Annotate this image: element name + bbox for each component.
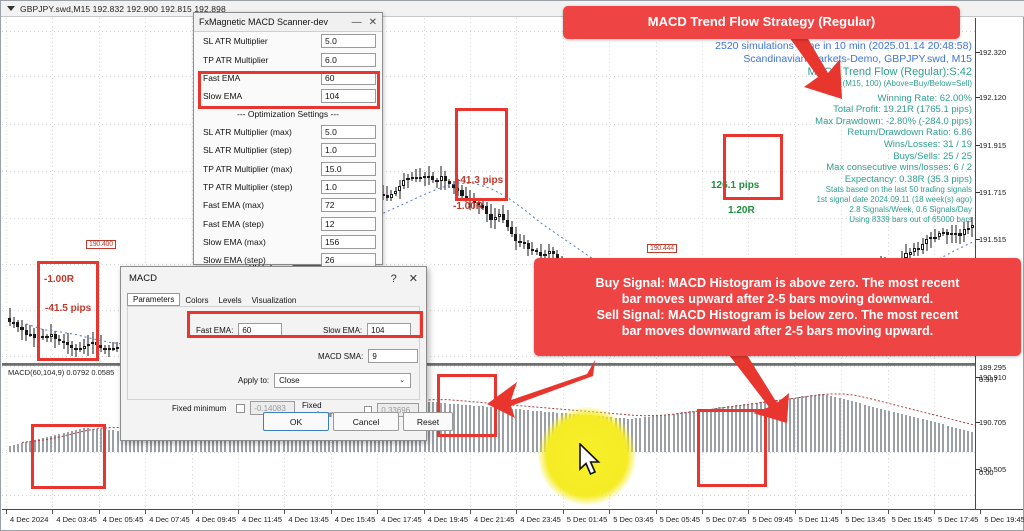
scanner-row-label: TP ATR Multiplier (max) [203,164,321,174]
scanner-row[interactable]: TP ATR Multiplier (max) 15.0 [194,159,382,177]
macd-dialog-titlebar[interactable]: MACD ? ✕ [121,267,426,290]
close-icon[interactable]: ✕ [409,272,418,285]
scanner-row-label: TP ATR Multiplier [203,55,321,65]
time-axis-label: 4 Dec 21:45 [474,515,514,524]
apply-to-value[interactable]: Close [279,374,299,388]
time-axis-label: 4 Dec 13:45 [288,515,328,524]
scanner-row[interactable]: TP ATR Multiplier (step) 1.0 [194,178,382,196]
fixed-minimum-checkbox[interactable] [236,404,245,413]
macd-sma-row: MACD SMA: 9 [318,349,418,363]
help-icon[interactable]: ? [391,273,397,285]
scanner-row-label: Fast EMA (max) [203,200,321,210]
callout-title: MACD Trend Flow Strategy (Regular) [563,6,960,39]
callout-rule-line-4: bar moves downward after 2-5 bars moving… [622,323,933,339]
fixed-minimum-label: Fixed minimum [172,404,226,413]
tab-levels[interactable]: Levels [213,295,246,306]
time-axis-label: 4 Dec 03:45 [56,515,96,524]
time-axis-label: 4 Dec 09:45 [196,515,236,524]
time-axis-label: 4 Dec 2024 [10,515,48,524]
price-axis-label: 191.715 [979,188,1006,197]
scanner-row-value[interactable]: 5.0 [321,125,376,139]
apply-to-row: Apply to: Close ⌄ [238,373,418,388]
time-axis-label: 4 Dec 19:45 [428,515,468,524]
scanner-row-label: Slow EMA (max) [203,237,321,247]
scanner-row-value[interactable]: 15.0 [321,162,376,176]
tab-colors[interactable]: Colors [180,295,213,306]
stat-total-profit: Total Profit: 19.21R (1765.1 pips) [715,104,972,116]
time-axis-label: 5 Dec 15:45 [892,515,932,524]
scanner-row-value[interactable]: 1.0 [321,180,376,194]
macd-sma-label: MACD SMA: [318,352,363,361]
time-axis-label: 4 Dec 11:45 [242,515,282,524]
reset-button[interactable]: Reset [403,412,453,431]
macd-properties-dialog[interactable]: MACD ? ✕ Parameters Colors Levels Visual… [120,266,427,441]
time-axis-label: 5 Dec 05:45 [660,515,700,524]
scanner-row-label: SL ATR Multiplier (step) [203,145,321,155]
time-axis-label: 5 Dec 17:45 [938,515,978,524]
macd-dialog-title: MACD [129,273,391,284]
tab-parameters[interactable]: Parameters [127,293,180,306]
scanner-row[interactable]: Slow EMA (max) 156 [194,233,382,251]
stat-bars-used: Using 8339 bars out of 65000 bars [715,215,972,225]
highlight-box-dialog-ema [187,311,423,338]
arrow-callout-to-macd-right [725,355,795,423]
scanner-row-value[interactable]: 1.0 [321,143,376,157]
highlight-box-trade-1 [37,261,99,361]
stat-max-drawdown: Max Drawdown: -2.80% (-284.0 pips) [715,116,972,128]
time-axis-label: 5 Dec 09:45 [752,515,792,524]
price-axis-label: 191.515 [979,235,1006,244]
close-icon[interactable]: ✕ [369,17,377,28]
screenshot-root: GBPJPY.swd,M15 192.832 192.900 192.815 1… [0,0,1024,531]
scanner-title: FxMagnetic MACD Scanner-dev [199,17,345,27]
macd-pane-label: MACD(60,104,9) 0.0792 0.0585 [6,368,116,377]
chevron-down-icon[interactable]: ⌄ [399,374,405,388]
callout-rule-line-1: Buy Signal: MACD Histogram is above zero… [596,275,960,291]
time-axis-label: 4 Dec 05:45 [103,515,143,524]
macd-sma-input[interactable]: 9 [368,349,418,363]
time-axis-label: 5 Dec 07:45 [706,515,746,524]
time-axis-label: 5 Dec 03:45 [613,515,653,524]
time-axis-label: 5 Dec 11:45 [799,515,839,524]
price-axis-label: 191.915 [979,141,1006,150]
scanner-row-label: Slow EMA (step) [203,255,321,265]
callout-rule-line-2: bar moves upward after 2-5 bars moving d… [622,291,933,307]
price-tag-2: 190.444 [647,244,677,253]
scanner-row[interactable]: SL ATR Multiplier (step) 1.0 [194,141,382,159]
mouse-cursor-icon [578,443,602,477]
scanner-row-value[interactable]: 156 [321,235,376,249]
callout-rules: Buy Signal: MACD Histogram is above zero… [534,258,1021,356]
fxmagnetic-scanner-panel[interactable]: FxMagnetic MACD Scanner-dev — ✕ SL ATR M… [193,12,383,265]
scanner-row[interactable]: Fast EMA (step) 12 [194,215,382,233]
tab-visualization[interactable]: Visualization [247,295,302,306]
apply-to-label: Apply to: [238,376,269,385]
scanner-row-label: Fast EMA (step) [203,219,321,229]
time-axis-label: 5 Dec 19:45 [984,515,1024,524]
macd-dialog-tabs[interactable]: Parameters Colors Levels Visualization [121,290,426,306]
time-axis-label: 5 Dec 13:45 [845,515,885,524]
scanner-row-value[interactable]: 12 [321,217,376,231]
scanner-row[interactable]: SL ATR Multiplier 5.0 [194,32,382,50]
macd-axis-label: 0.00 [979,468,994,477]
chevron-down-icon[interactable] [7,6,15,11]
time-axis-label: 4 Dec 15:45 [335,515,375,524]
cancel-button[interactable]: Cancel [333,412,399,431]
minimize-icon[interactable]: — [352,17,362,28]
time-axis-label: 5 Dec 01:45 [567,515,607,524]
macd-axis-label: 0.337 [979,375,998,384]
time-axis[interactable]: 4 Dec 2024 4 Dec 03:45 4 Dec 05:45 4 Dec… [2,509,1023,530]
highlight-box-macd-1 [31,424,106,489]
scanner-rows: SL ATR Multiplier 5.0 TP ATR Multiplier … [194,32,382,270]
highlight-box-trade-2 [455,108,508,201]
scanner-row-value[interactable]: 6.0 [321,53,376,67]
scanner-row[interactable]: Fast EMA (max) 72 [194,196,382,214]
scanner-row-label: SL ATR Multiplier [203,36,321,46]
scanner-row-label: TP ATR Multiplier (step) [203,182,321,192]
highlight-box-trade-3 [723,134,783,200]
scanner-row[interactable]: SL ATR Multiplier (max) 5.0 [194,123,382,141]
price-axis-label: 192.320 [979,48,1006,57]
callout-rule-line-3: Sell Signal: MACD Histogram is below zer… [597,307,959,323]
scanner-titlebar[interactable]: FxMagnetic MACD Scanner-dev — ✕ [194,13,382,32]
price-axis-label: 189.295 [979,363,1006,372]
highlight-box-scanner-ema [198,71,380,109]
ok-button[interactable]: OK [263,412,329,431]
scanner-row-label: SL ATR Multiplier (max) [203,127,321,137]
trade-r-label-2: -1.00R [453,201,483,212]
price-axis-label: 190.705 [979,418,1006,427]
price-axis-label: 192.120 [979,93,1006,102]
time-axis-label: 4 Dec 07:45 [149,515,189,524]
trade-r-label-3: 1.20R [728,205,755,216]
time-axis-label: 4 Dec 17:45 [381,515,421,524]
callout-title-text: MACD Trend Flow Strategy (Regular) [648,14,876,31]
scanner-row-value[interactable]: 72 [321,198,376,212]
scanner-row[interactable]: TP ATR Multiplier 6.0 [194,50,382,68]
scanner-row-value[interactable]: 5.0 [321,34,376,48]
time-axis-label: 4 Dec 23:45 [520,515,560,524]
price-tag-1: 190.400 [86,240,116,249]
